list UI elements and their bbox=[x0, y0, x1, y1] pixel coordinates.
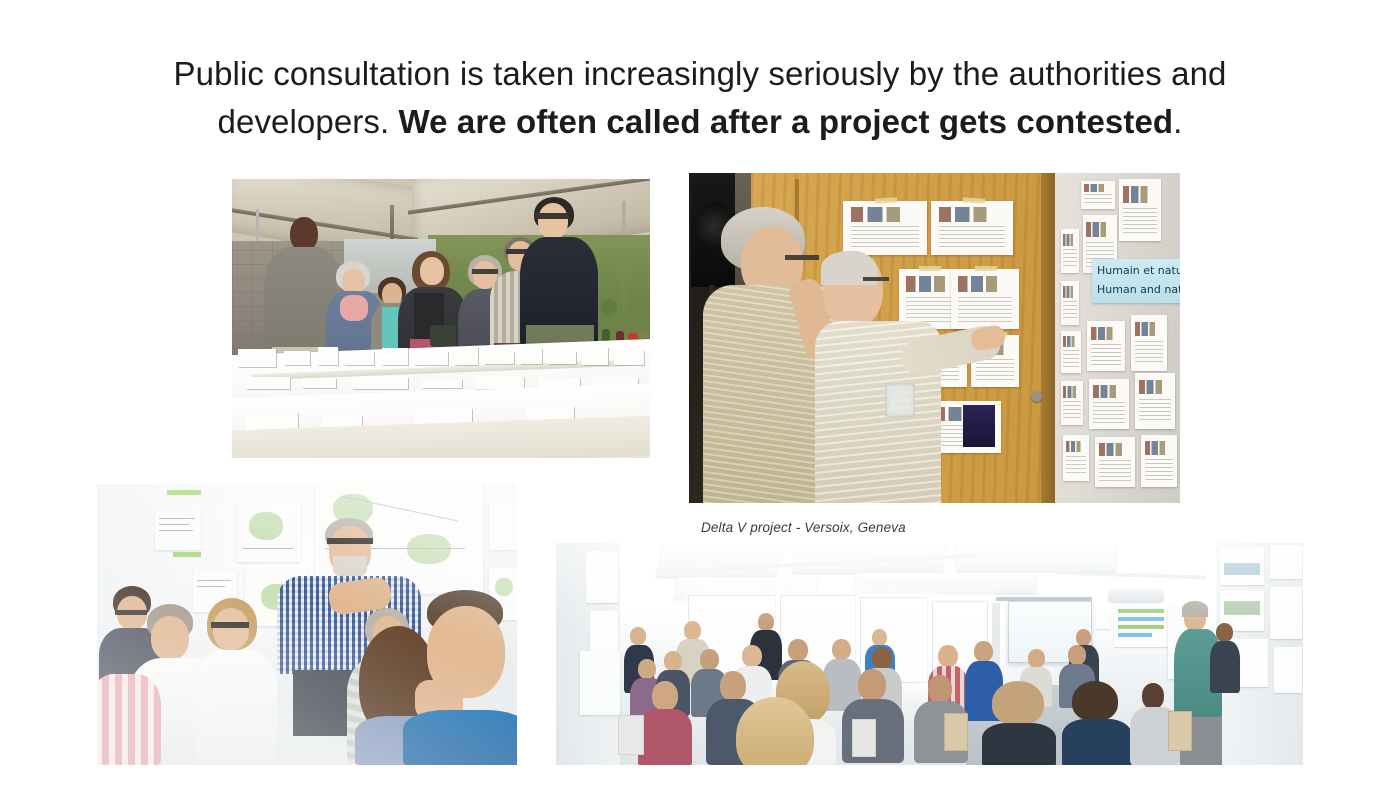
plan-label-green bbox=[173, 552, 201, 557]
poster-sheet bbox=[843, 201, 927, 255]
person-head bbox=[630, 627, 646, 645]
chart-row-blue bbox=[1118, 617, 1164, 621]
banner-line-french: Humain et naturel bbox=[1092, 259, 1180, 281]
person-head bbox=[788, 639, 808, 661]
chart-row-green bbox=[1118, 625, 1164, 629]
person-head bbox=[700, 649, 719, 670]
poster-sheet bbox=[931, 201, 1013, 255]
glasses bbox=[472, 269, 498, 274]
wall-poster bbox=[586, 551, 618, 603]
side-poster bbox=[1087, 321, 1125, 371]
person-hair bbox=[992, 681, 1044, 725]
person-torso bbox=[195, 650, 277, 764]
side-poster bbox=[1061, 229, 1079, 273]
person-torso bbox=[1210, 641, 1240, 693]
person-head bbox=[638, 659, 656, 679]
glasses bbox=[535, 213, 569, 219]
wall-poster bbox=[1270, 545, 1302, 579]
chart-row-blue bbox=[1118, 633, 1152, 637]
side-poster bbox=[1119, 179, 1161, 241]
wall-plan-sheet bbox=[155, 510, 201, 550]
wall-poster bbox=[1274, 647, 1302, 693]
slide-canvas: Public consultation is taken increasingl… bbox=[0, 0, 1400, 788]
poster-tape bbox=[975, 266, 997, 271]
headline-line-2-regular: developers. bbox=[218, 103, 399, 140]
poster-tape bbox=[919, 266, 941, 271]
door-handle bbox=[1031, 391, 1042, 402]
photo-audience-scene bbox=[556, 543, 1303, 765]
person-head bbox=[1216, 623, 1233, 642]
whiteboard bbox=[580, 651, 620, 715]
poster-tape bbox=[963, 197, 985, 203]
wall-plan-sheet bbox=[237, 500, 301, 562]
person-head bbox=[928, 675, 952, 703]
side-poster bbox=[1061, 381, 1083, 425]
person-beard bbox=[333, 556, 367, 578]
model-building-row bbox=[232, 345, 650, 371]
person-head bbox=[720, 671, 746, 701]
wall-poster bbox=[1270, 587, 1302, 639]
chair bbox=[852, 719, 876, 757]
person-torso bbox=[982, 723, 1056, 765]
poster-image-blue bbox=[1224, 563, 1260, 575]
projection-screen-roller bbox=[996, 597, 1092, 601]
person-head bbox=[684, 621, 701, 640]
air-conditioner bbox=[1108, 589, 1164, 603]
side-poster bbox=[1095, 437, 1135, 487]
headline-line-2-period: . bbox=[1173, 103, 1182, 140]
chart-row-green bbox=[1118, 609, 1164, 613]
wall-note bbox=[1096, 611, 1110, 629]
side-poster bbox=[1089, 379, 1129, 429]
person-scarf bbox=[340, 295, 368, 321]
photo-standing-speaker-meeting bbox=[97, 484, 517, 765]
side-poster bbox=[1061, 281, 1079, 325]
person-head bbox=[664, 651, 682, 671]
glasses bbox=[863, 277, 889, 281]
banner-humain-et-naturel: Humain et naturel Human and natur bbox=[1092, 259, 1180, 303]
person-head bbox=[1068, 645, 1086, 665]
person-head bbox=[974, 641, 993, 662]
person-head bbox=[652, 681, 678, 711]
person-torso bbox=[97, 674, 161, 765]
person-head bbox=[420, 257, 444, 285]
person-head bbox=[832, 639, 851, 660]
wall-plan-sheet bbox=[489, 502, 517, 550]
side-poster bbox=[1081, 181, 1115, 209]
person-head bbox=[290, 217, 318, 251]
glasses bbox=[115, 610, 147, 615]
banner-line-english: Human and natur bbox=[1092, 281, 1180, 299]
person-head bbox=[1076, 629, 1091, 646]
chair bbox=[618, 715, 644, 755]
poster-sheet bbox=[951, 269, 1019, 329]
page-title: Public consultation is taken increasingl… bbox=[100, 50, 1300, 146]
side-poster bbox=[1135, 373, 1175, 429]
photo-tent-scale-model bbox=[232, 179, 650, 458]
photo-public-meeting-audience bbox=[556, 543, 1303, 765]
person-head bbox=[742, 645, 762, 667]
side-poster bbox=[1061, 331, 1081, 373]
person-hair bbox=[1182, 601, 1208, 617]
camera bbox=[430, 325, 456, 347]
person-head bbox=[1028, 649, 1045, 668]
photo-poster-wall-couple: Humain et naturel Human and natur bbox=[689, 173, 1180, 503]
person-head bbox=[151, 616, 189, 660]
photo-tent-scene bbox=[232, 179, 650, 458]
person-head bbox=[1142, 683, 1164, 709]
person-hair bbox=[1072, 681, 1118, 721]
plan-label-green bbox=[167, 490, 201, 495]
glasses bbox=[211, 622, 249, 628]
person-head bbox=[938, 645, 958, 667]
glasses bbox=[785, 255, 819, 260]
person-head bbox=[538, 203, 568, 239]
person-head bbox=[872, 647, 892, 669]
ceiling-panel bbox=[956, 543, 1116, 571]
side-poster bbox=[1131, 315, 1167, 371]
poster-dark-panel bbox=[963, 405, 995, 447]
headline-line-1: Public consultation is taken increasingl… bbox=[174, 55, 1227, 92]
person-head bbox=[872, 629, 887, 646]
photo-posters-scene: Humain et naturel Human and natur bbox=[689, 173, 1180, 503]
poster-image-green bbox=[1224, 601, 1260, 615]
person-torso bbox=[1062, 719, 1132, 765]
chair bbox=[1168, 711, 1192, 751]
person-torso bbox=[638, 709, 692, 765]
door-frame-edge bbox=[1041, 173, 1055, 503]
photo-meeting-scene bbox=[97, 484, 517, 765]
photo-caption-delta-v: Delta V project - Versoix, Geneva bbox=[701, 520, 906, 535]
person-torso bbox=[403, 710, 517, 765]
headline-line-2-emphasis: We are often called after a project gets… bbox=[399, 103, 1174, 140]
person-head bbox=[858, 669, 886, 701]
person-head bbox=[758, 613, 774, 631]
ceiling-light-strip bbox=[1056, 570, 1206, 579]
person-head bbox=[213, 608, 249, 650]
plastic-cup bbox=[885, 383, 915, 417]
ceiling-panel bbox=[856, 573, 1036, 593]
side-poster bbox=[1063, 435, 1089, 481]
ceiling-panel bbox=[656, 543, 784, 577]
side-poster bbox=[1141, 435, 1177, 487]
chair bbox=[944, 713, 968, 751]
glasses bbox=[327, 538, 373, 544]
